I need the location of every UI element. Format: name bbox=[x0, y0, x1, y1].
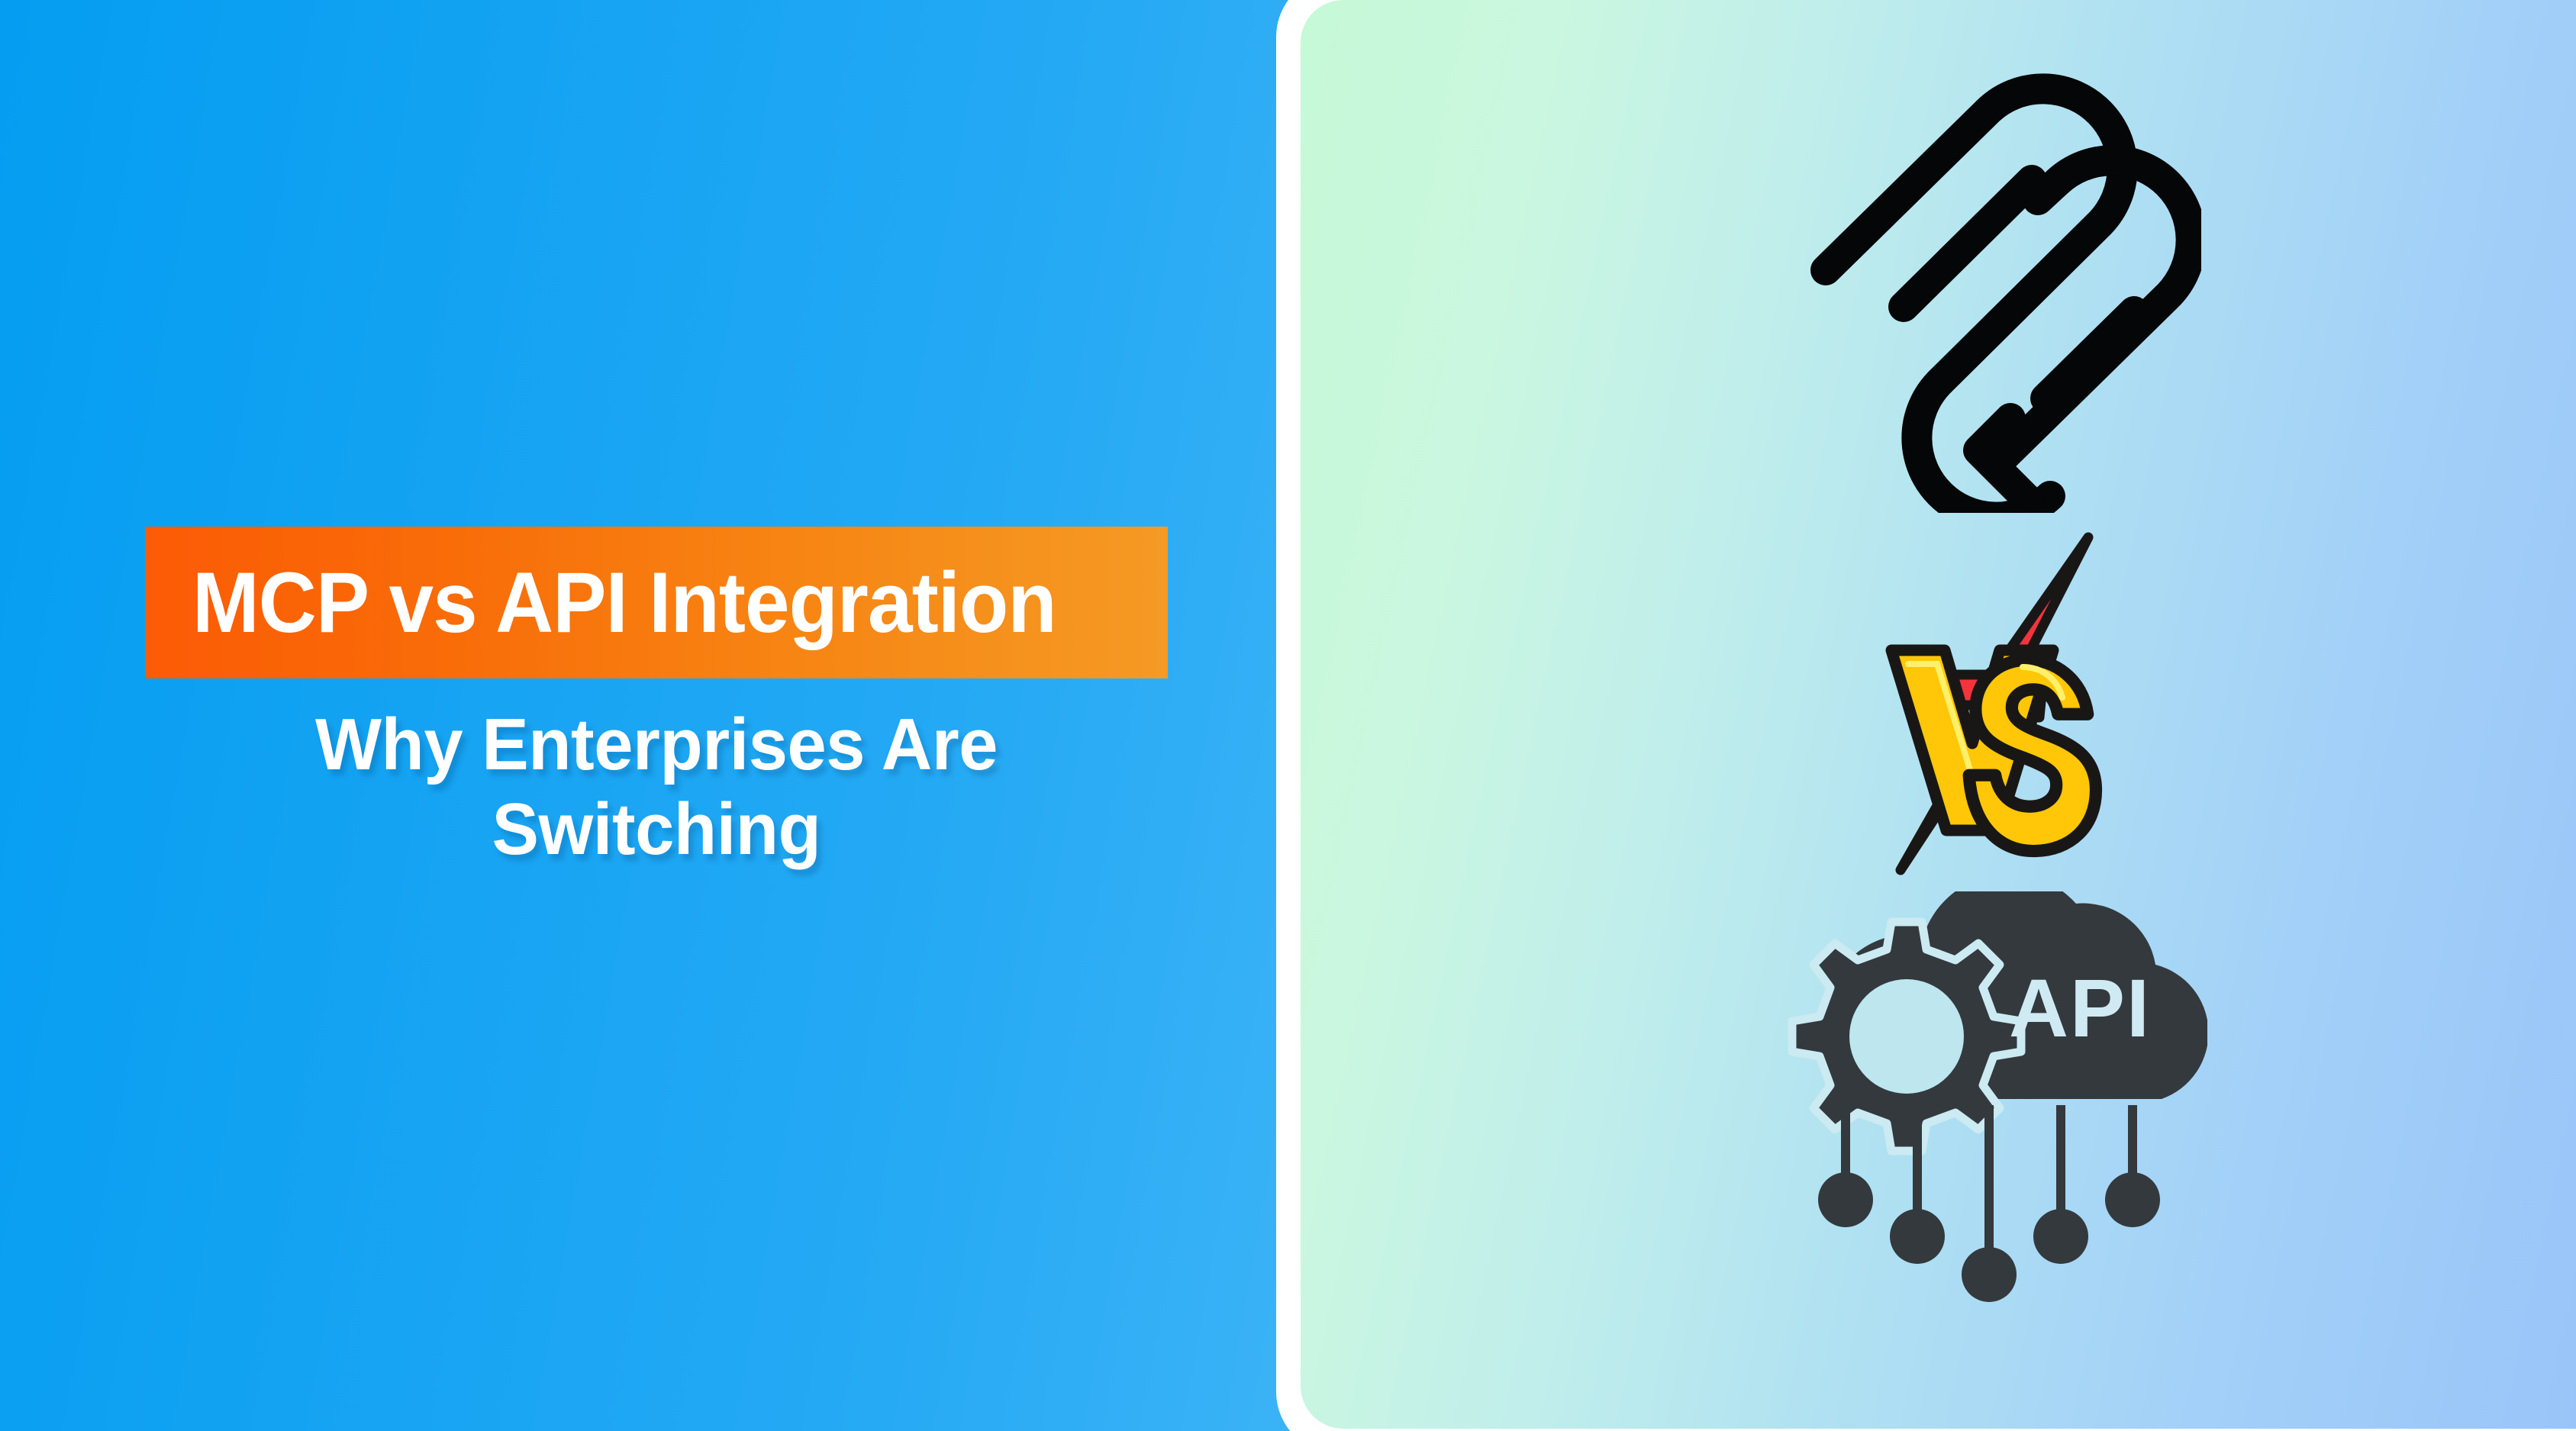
api-label: API bbox=[2009, 962, 2151, 1054]
subtitle-line-2: Switching bbox=[166, 787, 1147, 872]
gear-hub bbox=[1849, 979, 1964, 1094]
vs-badge-slot bbox=[1881, 525, 2110, 884]
artwork-stack: free API bbox=[1301, 0, 2576, 1429]
banner-canvas: MCP vs API Integration Why Enterprises A… bbox=[0, 0, 2576, 1431]
media-card-frame: free API bbox=[1276, 0, 2576, 1431]
api-cloud-slot: free API bbox=[1780, 891, 2207, 1334]
vs-badge-icon bbox=[1881, 525, 2110, 884]
media-card: free API bbox=[1301, 0, 2576, 1429]
mcp-logo-icon bbox=[1789, 55, 2201, 513]
mcp-logo-slot bbox=[1789, 55, 2201, 513]
page-title: MCP vs API Integration bbox=[192, 560, 1056, 646]
left-text-column: MCP vs API Integration Why Enterprises A… bbox=[0, 0, 1298, 1431]
api-cloud-icon: free API bbox=[1780, 891, 2207, 1334]
subtitle-block: Why Enterprises Are Switching bbox=[145, 702, 1168, 872]
subtitle-line-1: Why Enterprises Are bbox=[166, 702, 1147, 787]
title-banner: MCP vs API Integration bbox=[145, 527, 1168, 678]
